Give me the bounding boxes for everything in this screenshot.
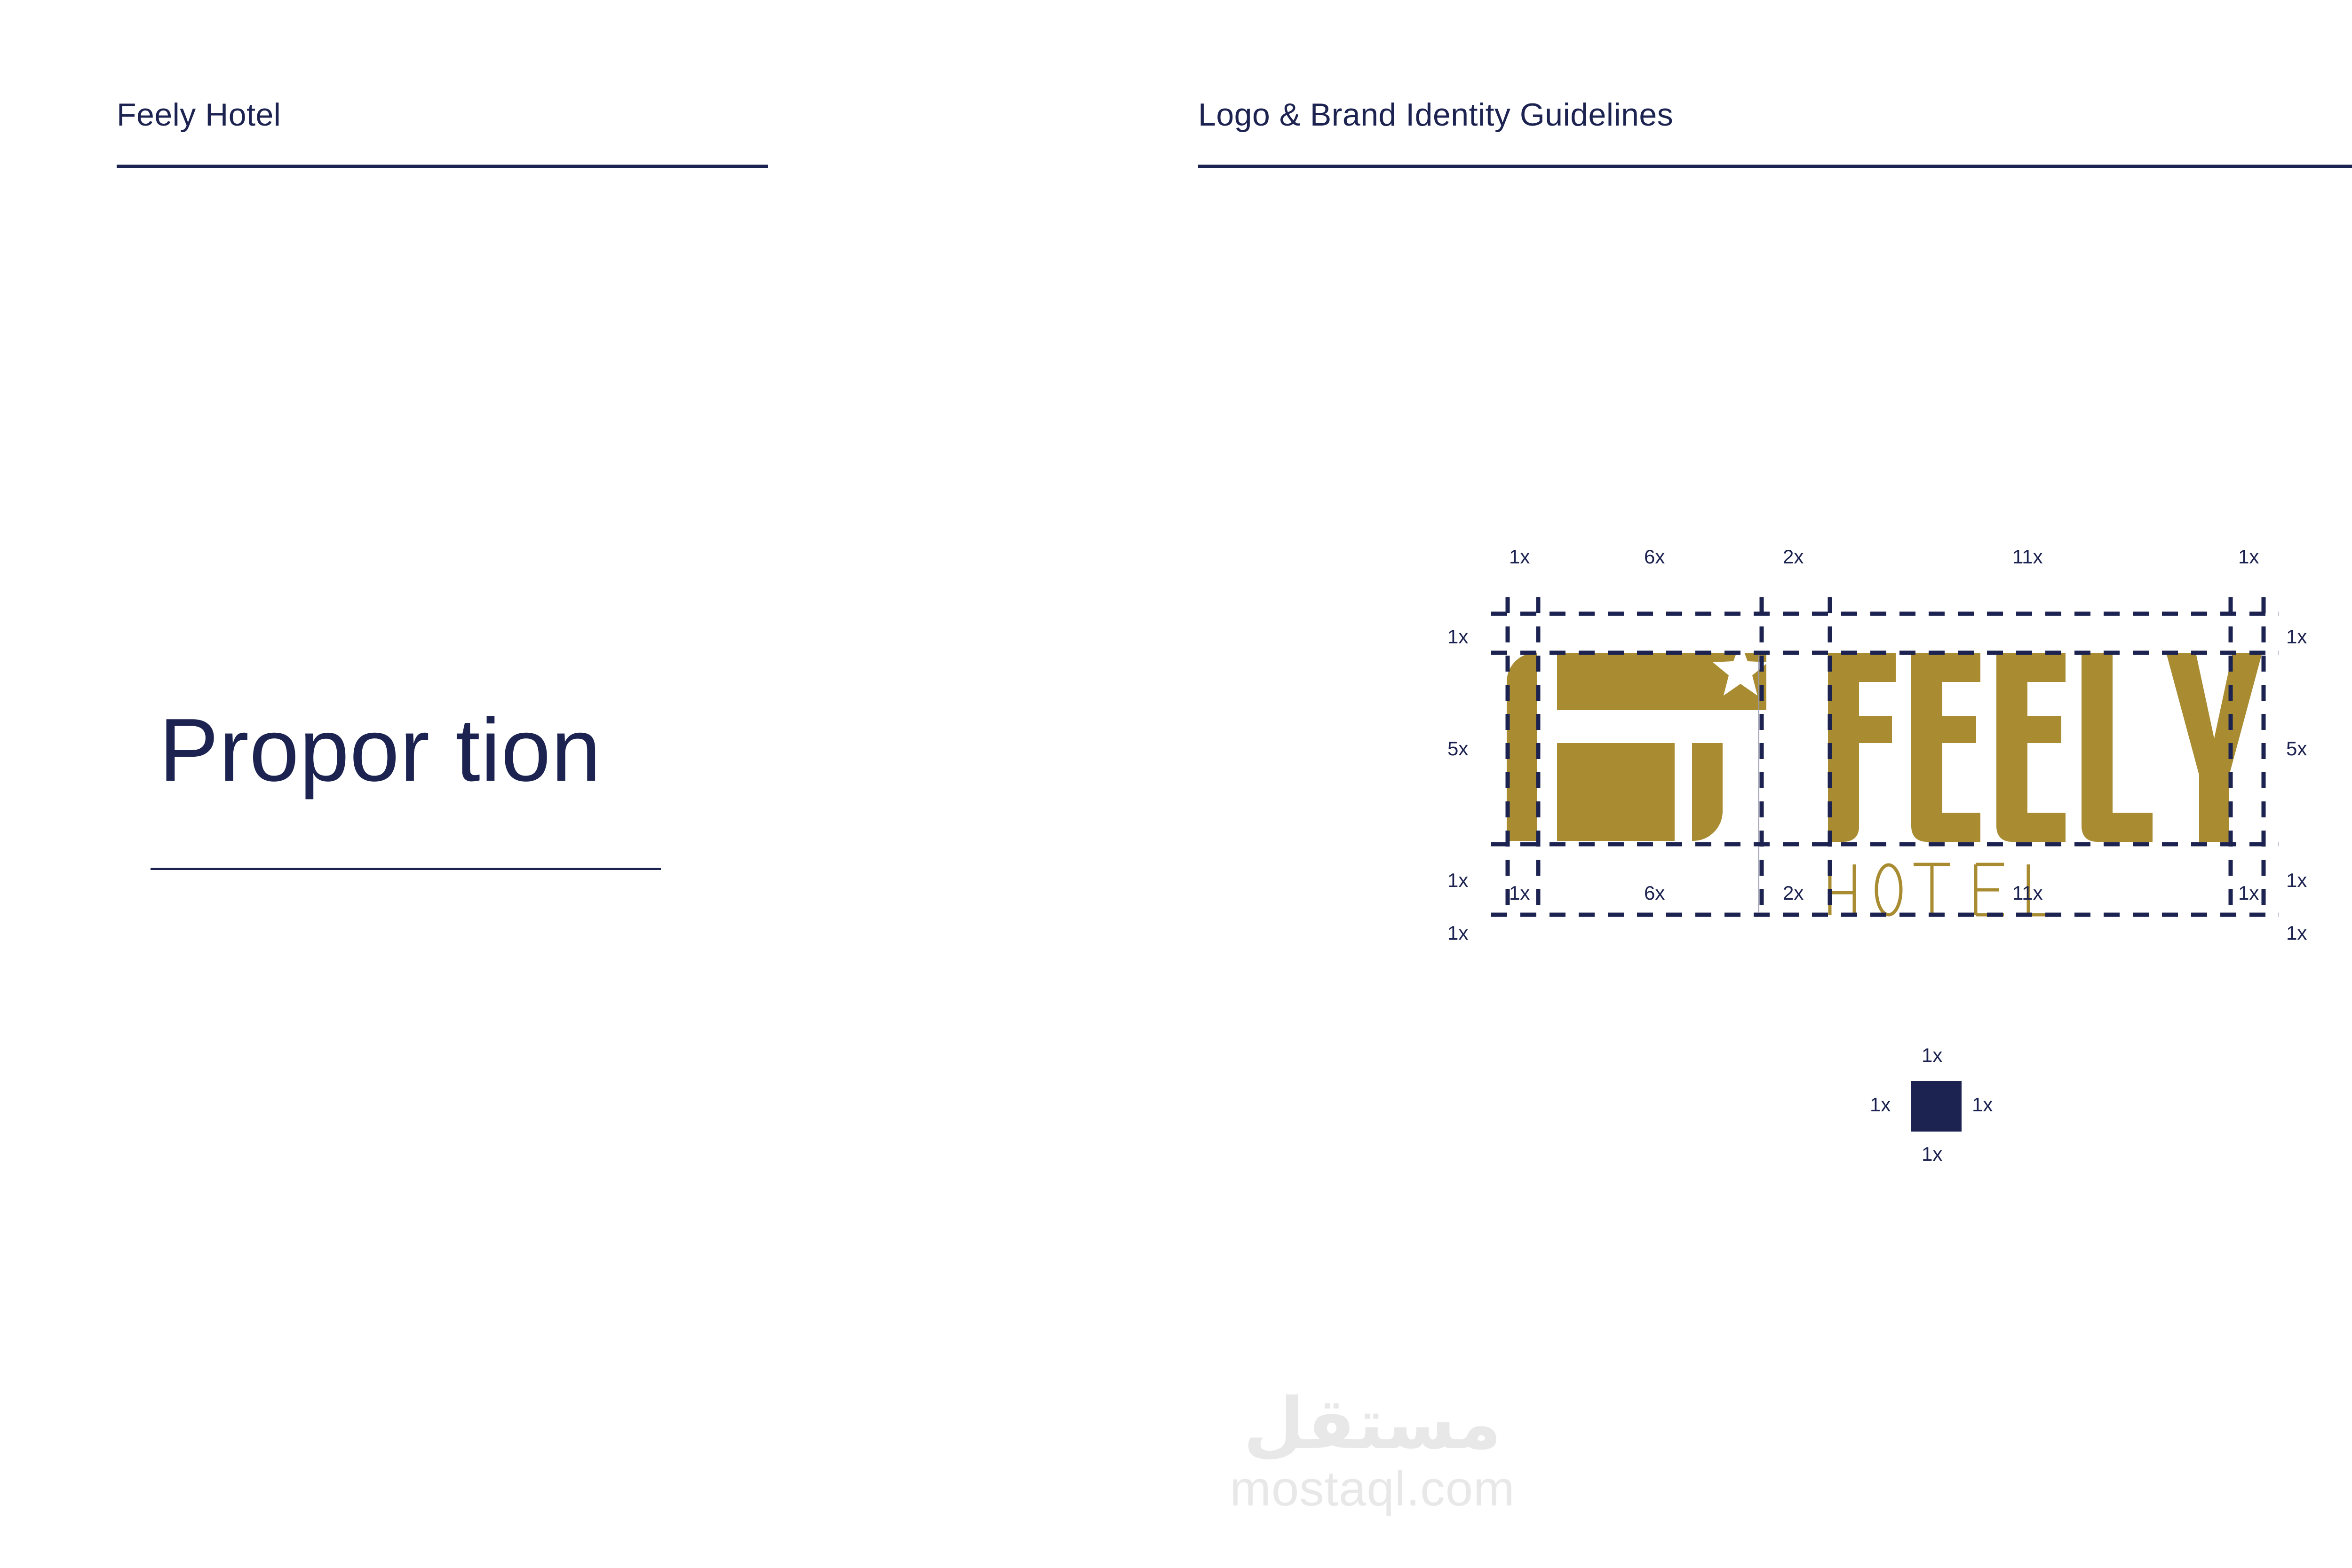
logo-mark (1507, 653, 1766, 841)
unit-label-bottom: 1x (1922, 1143, 1942, 1165)
meas-bottom-1: 1x (1509, 882, 1530, 904)
proportion-diagram: 1x 6x 2x 11x 1x 1x 6x 2x 11x 1x 1x 5x 1x… (1458, 541, 2352, 917)
header-rule-right (1198, 165, 2352, 168)
meas-right-1: 1x (2286, 626, 2307, 648)
meas-left-3: 1x (1447, 869, 1468, 892)
meas-bottom-5: 1x (2238, 882, 2259, 904)
meas-left-2: 5x (1447, 737, 1468, 760)
section-title-underline (151, 868, 661, 870)
meas-top-4: 11x (2012, 546, 2043, 568)
logo-wordmark (1828, 653, 2262, 842)
watermark-domain: mostaql.com (0, 1462, 2352, 1516)
header-brand-title: Feely Hotel (117, 96, 281, 133)
header-document-title: Logo & Brand Identity Guidelines (1198, 96, 1673, 133)
watermark: مستقل mostaql.com (0, 1387, 2352, 1516)
meas-top-2: 6x (1644, 546, 1665, 568)
unit-square-diagram: 1x 1x 1x 1x (1825, 1025, 2032, 1166)
meas-right-4: 1x (2286, 922, 2307, 944)
unit-label-right: 1x (1972, 1093, 1993, 1116)
unit-square-swatch (1911, 1081, 1962, 1132)
header-rule-left (117, 165, 768, 168)
meas-right-2: 5x (2286, 737, 2307, 760)
meas-top-1: 1x (1509, 546, 1530, 568)
unit-label-left: 1x (1870, 1093, 1891, 1116)
meas-right-3: 1x (2286, 869, 2307, 892)
slide-page: Feely Hotel Logo & Brand Identity Guidel… (0, 0, 2352, 1568)
meas-bottom-2: 6x (1644, 882, 1665, 904)
watermark-arabic-logo: مستقل (0, 1387, 2352, 1462)
meas-top-3: 2x (1783, 546, 1804, 568)
unit-label-top: 1x (1922, 1044, 1942, 1067)
meas-left-4: 1x (1447, 922, 1468, 944)
section-title: Propor tion (159, 705, 601, 795)
meas-bottom-3: 2x (1783, 882, 1804, 904)
meas-bottom-4: 11x (2012, 882, 2043, 904)
meas-top-5: 1x (2238, 546, 2259, 568)
meas-left-1: 1x (1447, 626, 1468, 648)
proportion-grid-and-logo (1458, 541, 2352, 917)
